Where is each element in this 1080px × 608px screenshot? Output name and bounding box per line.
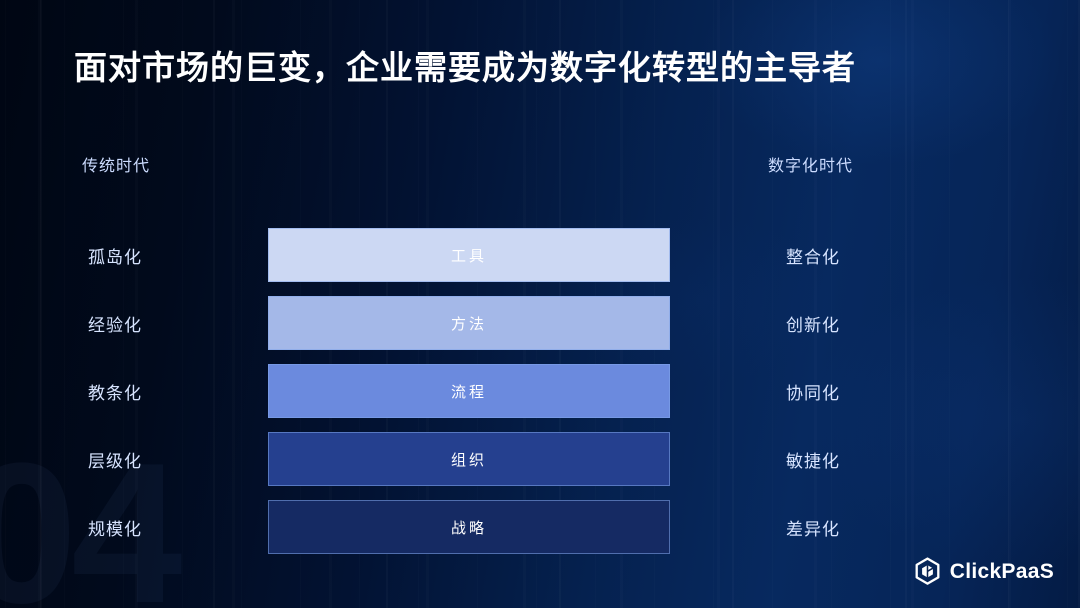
digital-label: 差异化 <box>786 500 840 554</box>
traditional-label: 孤岛化 <box>88 228 142 282</box>
center-bar-organization[interactable]: 组织 <box>268 432 670 486</box>
traditional-label: 教条化 <box>88 364 142 418</box>
brand-logo: ClickPaaS <box>914 557 1054 586</box>
hexagon-cube-icon <box>914 557 941 586</box>
comparison-row: 规模化 战略 差异化 <box>0 500 1080 554</box>
digital-label: 协同化 <box>786 364 840 418</box>
comparison-row: 经验化 方法 创新化 <box>0 296 1080 350</box>
comparison-row: 层级化 组织 敏捷化 <box>0 432 1080 486</box>
traditional-label: 经验化 <box>88 296 142 350</box>
comparison-row: 教条化 流程 协同化 <box>0 364 1080 418</box>
comparison-row: 孤岛化 工具 整合化 <box>0 228 1080 282</box>
center-bar-strategy[interactable]: 战略 <box>268 500 670 554</box>
traditional-label: 层级化 <box>88 432 142 486</box>
traditional-label: 规模化 <box>88 500 142 554</box>
center-bar-tool[interactable]: 工具 <box>268 228 670 282</box>
digital-label: 创新化 <box>786 296 840 350</box>
column-header-traditional: 传统时代 <box>82 152 150 176</box>
page-title: 面对市场的巨变，企业需要成为数字化转型的主导者 <box>74 41 856 89</box>
center-bar-method[interactable]: 方法 <box>268 296 670 350</box>
presentation-slide: 04 面对市场的巨变，企业需要成为数字化转型的主导者 传统时代 数字化时代 孤岛… <box>0 0 1080 608</box>
center-bar-process[interactable]: 流程 <box>268 364 670 418</box>
digital-label: 敏捷化 <box>786 432 840 486</box>
digital-label: 整合化 <box>786 228 840 282</box>
brand-name: ClickPaaS <box>950 560 1054 584</box>
column-header-digital: 数字化时代 <box>768 152 853 176</box>
comparison-rows: 孤岛化 工具 整合化 经验化 方法 创新化 教条化 流程 协同化 层级化 组织 … <box>0 228 1080 554</box>
